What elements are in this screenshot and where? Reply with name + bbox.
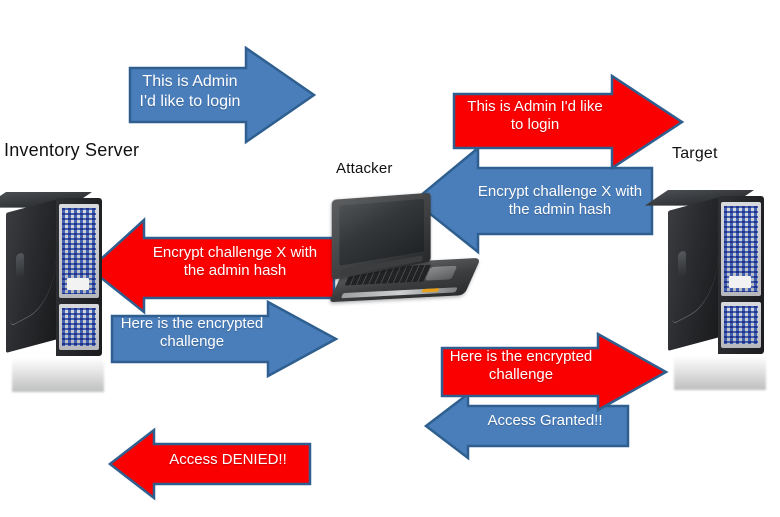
node-label-target: Target xyxy=(672,145,718,163)
message-arrow-msg-4[interactable]: Encrypt challenge X with the admin hash xyxy=(88,218,336,314)
message-arrow-msg-1[interactable]: This is Admin I'd like to login xyxy=(128,46,316,144)
server-tower-icon-target xyxy=(668,190,776,358)
diagram-canvas: This is Admin I'd like to login Encrypt … xyxy=(0,0,780,517)
node-label-inventory-server: Inventory Server xyxy=(4,140,139,161)
node-label-attacker: Attacker xyxy=(336,160,393,177)
server-tower-icon-inventory xyxy=(6,192,114,360)
laptop-icon-attacker xyxy=(327,196,473,308)
message-arrow-msg-6[interactable]: Here is the encrypted challenge xyxy=(440,332,668,412)
message-arrow-msg-8[interactable]: Access DENIED!! xyxy=(108,428,312,500)
message-arrow-msg-2[interactable]: This is Admin I'd like to login xyxy=(452,74,684,170)
